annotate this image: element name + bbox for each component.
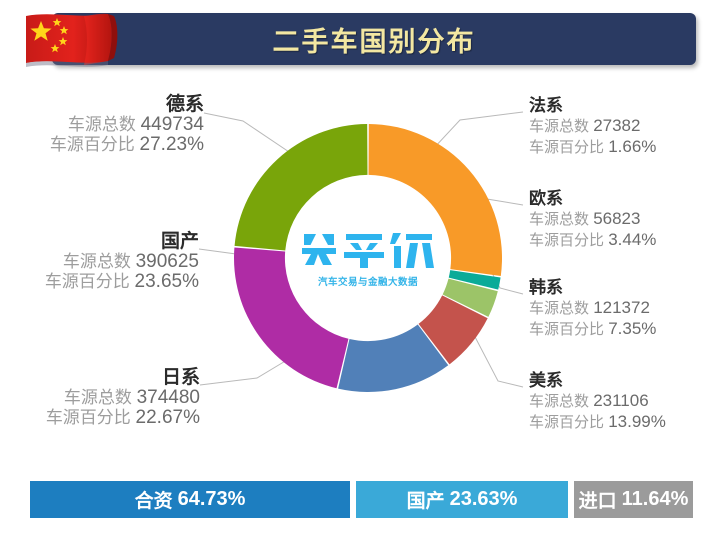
percent-prefix: 车源百分比 [45,272,130,291]
callout-total: 车源总数 374480 [14,388,200,408]
donut-slice-日系[interactable] [234,247,348,388]
callout-total: 车源总数 390625 [14,252,199,272]
callout-percent: 车源百分比 22.67% [14,408,200,428]
callout-percent: 车源百分比 1.66% [529,137,656,158]
callout-domestic[interactable]: 国产 车源总数 390625 车源百分比 23.65% [14,232,199,292]
callout-total: 车源总数 56823 [529,209,656,230]
percent-value: 23.65% [135,271,199,292]
total-prefix: 车源总数 [529,300,589,317]
percent-prefix: 车源百分比 [529,414,604,431]
summary-segment-joint-venture[interactable]: 合资 64.73% [30,481,350,518]
callout-label: 韩系 [529,278,656,298]
callout-total: 车源总数 121372 [529,298,656,319]
callout-label: 欧系 [529,189,656,209]
percent-prefix: 车源百分比 [529,321,604,338]
callout-deutsch[interactable]: 德系 车源总数 449734 车源百分比 27.23% [14,95,204,155]
total-value: 56823 [593,209,640,228]
callout-percent: 车源百分比 13.99% [529,412,666,433]
china-flag-icon [22,9,142,71]
callout-total: 车源总数 231106 [529,391,666,412]
callout-japanese[interactable]: 日系 车源总数 374480 车源百分比 22.67% [14,368,200,428]
callout-total: 车源总数 27382 [529,116,656,137]
total-value: 121372 [593,298,650,317]
summary-segment-domestic[interactable]: 国产 23.63% [356,481,568,518]
percent-prefix: 车源百分比 [529,139,604,156]
total-value: 374480 [137,387,200,408]
percent-value: 22.67% [136,407,200,428]
callout-percent: 车源百分比 3.44% [529,230,656,251]
callout-label: 美系 [529,371,666,391]
percent-value: 3.44% [608,230,656,249]
donut-chart: 汽车交易与金融大数据 [228,118,508,398]
callout-korean[interactable]: 韩系 车源总数 121372 车源百分比 7.35% [529,278,656,340]
callout-label: 法系 [529,96,656,116]
page-title: 二手车国别分布 [52,13,696,65]
percent-value: 1.66% [608,137,656,156]
summary-bar: 合资 64.73% 国产 23.63% 进口 11.64% [30,481,693,518]
callout-percent: 车源百分比 23.65% [14,272,199,292]
percent-prefix: 车源百分比 [46,408,131,427]
callout-american[interactable]: 美系 车源总数 231106 车源百分比 13.99% [529,371,666,433]
summary-label: 进口 [579,486,617,513]
summary-segment-import[interactable]: 进口 11.64% [574,481,693,518]
callout-label: 国产 [14,232,199,252]
percent-prefix: 车源百分比 [529,232,604,249]
header-bar: 二手车国别分布 [52,13,696,65]
donut-slice-国产[interactable] [235,124,368,250]
callout-label: 日系 [14,368,200,388]
donut-slice-德系[interactable] [368,124,502,276]
summary-percent: 64.73% [178,488,246,511]
percent-prefix: 车源百分比 [50,135,135,154]
total-value: 231106 [593,391,648,410]
summary-percent: 23.63% [450,488,518,511]
summary-label: 合资 [135,486,173,513]
total-prefix: 车源总数 [63,252,131,271]
donut-chart-svg[interactable] [228,118,508,398]
total-value: 27382 [593,116,640,135]
percent-value: 27.23% [140,134,204,155]
percent-value: 13.99% [608,412,666,431]
summary-label: 国产 [407,486,445,513]
total-value: 449734 [141,114,204,135]
total-value: 390625 [136,251,199,272]
total-prefix: 车源总数 [529,393,589,410]
callout-percent: 车源百分比 7.35% [529,319,656,340]
total-prefix: 车源总数 [529,211,589,228]
callout-total: 车源总数 449734 [14,115,204,135]
total-prefix: 车源总数 [64,388,132,407]
callout-label: 德系 [14,95,204,115]
total-prefix: 车源总数 [529,118,589,135]
total-prefix: 车源总数 [68,115,136,134]
summary-percent: 11.64% [622,488,689,511]
callout-percent: 车源百分比 27.23% [14,135,204,155]
percent-value: 7.35% [608,319,656,338]
infographic-canvas: 二手车国别分布 [0,0,721,548]
callout-european[interactable]: 欧系 车源总数 56823 车源百分比 3.44% [529,189,656,251]
callout-french[interactable]: 法系 车源总数 27382 车源百分比 1.66% [529,96,656,158]
